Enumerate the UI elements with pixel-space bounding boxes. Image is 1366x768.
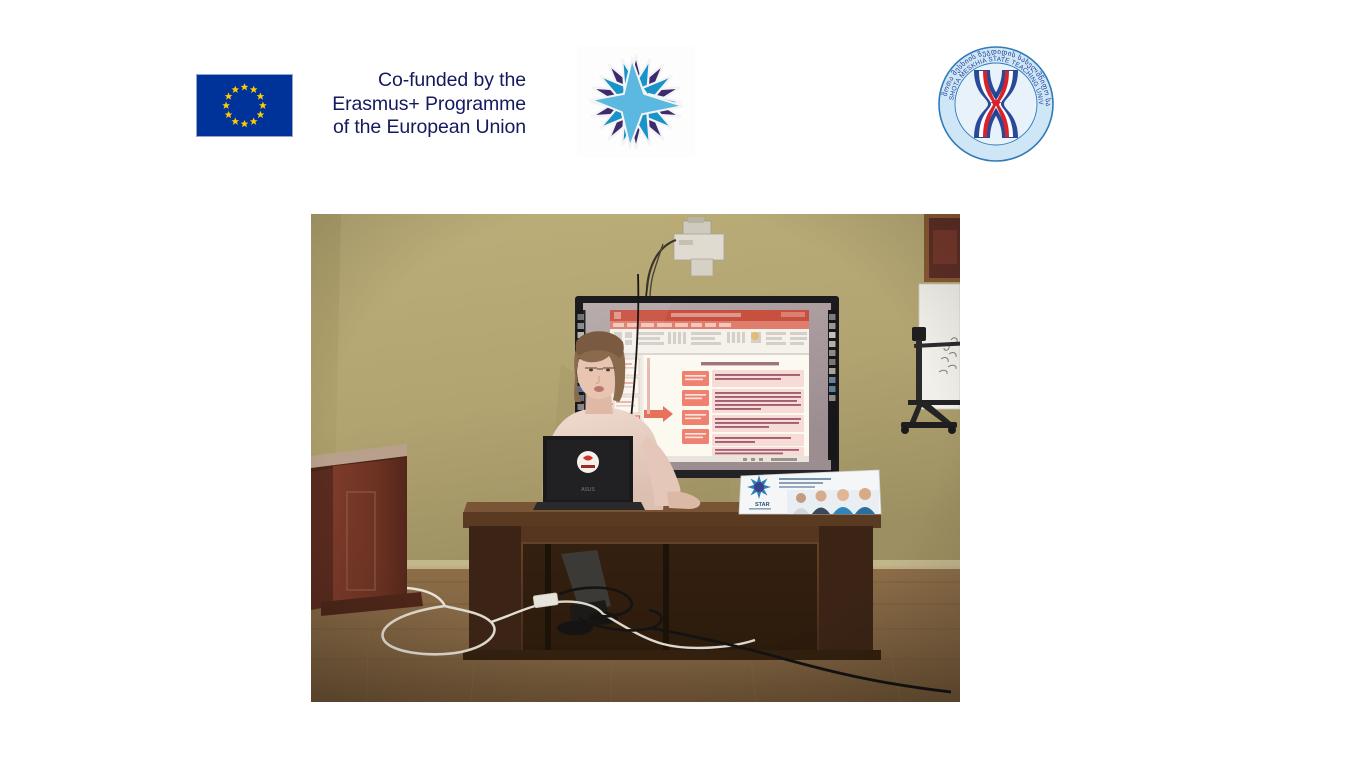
eu-funding-text: Co-funded by the Erasmus+ Programme of t… [296,69,526,140]
classroom-presentation-photo: ASUS [311,214,960,702]
university-seal-logo: შოთა მესხიის ზუგდიდის სახელმწიფო სასწავლ… [932,44,1060,164]
slide-canvas: Co-funded by the Erasmus+ Programme of t… [0,0,1366,768]
starburst-icon [585,51,687,153]
university-seal-icon: შოთა მესხიის ზუგდიდის სახელმწიფო სასწავლ… [932,44,1060,164]
eu-funding-line-2: Erasmus+ Programme [296,93,526,117]
logo-header-bar: Co-funded by the Erasmus+ Programme of t… [0,0,1366,200]
eu-funding-line-1: Co-funded by the [296,69,526,93]
photo-scene: ASUS [311,214,960,702]
eu-erasmus-logo: Co-funded by the Erasmus+ Programme of t… [196,74,526,138]
eu-stars-icon [197,75,292,136]
star-project-logo [577,46,695,158]
eu-funding-line-3: of the European Union [296,116,526,140]
eu-flag-icon [196,74,293,137]
